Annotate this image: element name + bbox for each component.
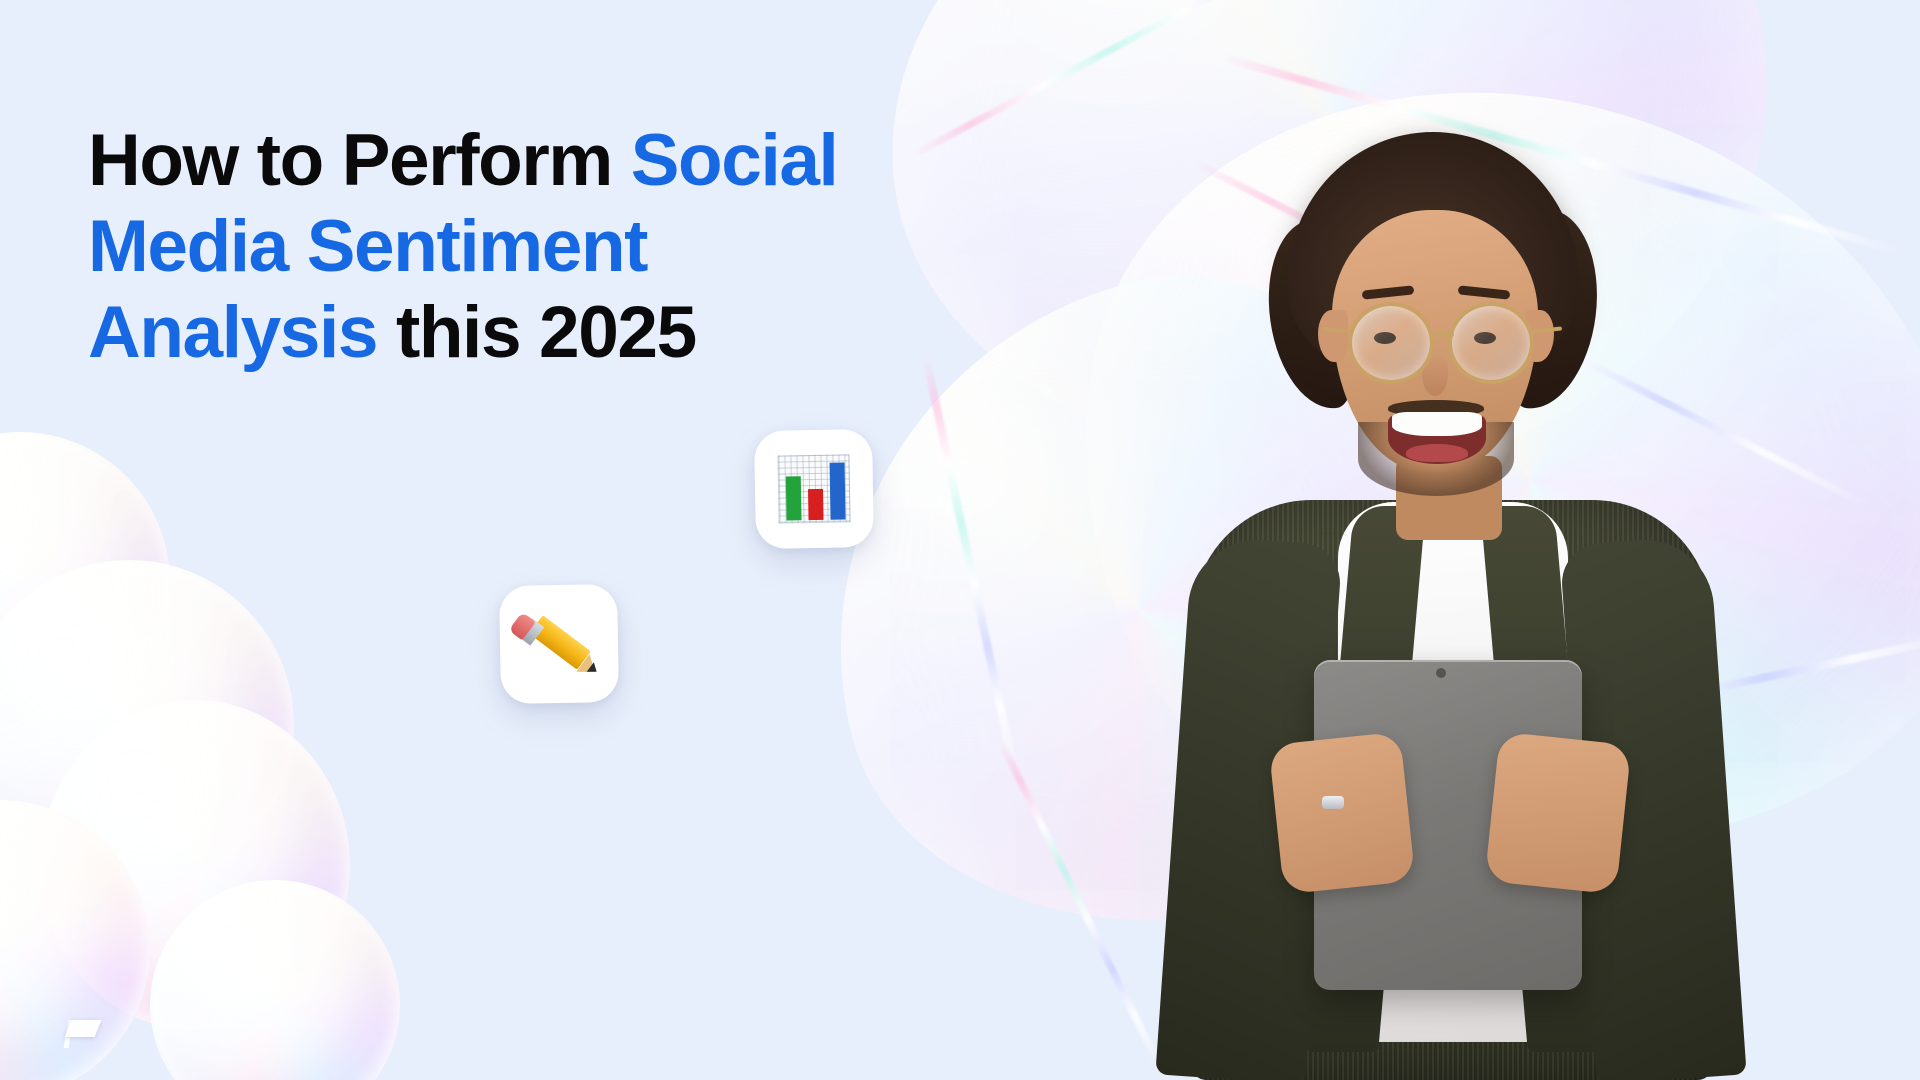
tablet-camera: [1436, 668, 1446, 678]
headline-text-accent-social: Social: [631, 120, 838, 201]
headline-line-3: Analysis this 2025: [88, 290, 1028, 376]
pencil-icon: [519, 604, 598, 683]
smiling-mouth: [1388, 412, 1486, 464]
hand-right: [1485, 732, 1632, 895]
page-title: How to Perform Social Media Sentiment An…: [88, 118, 1028, 376]
silver-ring: [1322, 796, 1344, 809]
smiling-man-with-tablet-photo: [1100, 70, 1800, 1080]
headline-line-1: How to Perform Social: [88, 118, 1028, 204]
headline-text-plain: How to Perform: [88, 120, 631, 201]
bar-chart-bar-blue: [830, 462, 846, 519]
bar-chart-icon: [777, 454, 850, 523]
ear-left: [1318, 310, 1348, 362]
headline-line-2: Media Sentiment: [88, 204, 1028, 290]
headline-text-accent-analysis: Analysis: [88, 292, 377, 373]
tongue: [1406, 444, 1468, 462]
headline-text-plain-year: this 2025: [377, 292, 696, 373]
hero-banner: How to Perform Social Media Sentiment An…: [0, 0, 1920, 1080]
pencil-card: [499, 584, 619, 704]
bubble-1: [0, 432, 170, 732]
teeth: [1392, 412, 1482, 436]
bubble-3: [40, 700, 350, 1030]
bubble-2: [0, 560, 294, 890]
glasses-lens-right: [1448, 302, 1534, 384]
bar-chart-card: [754, 429, 874, 549]
glasses-lens-left: [1348, 302, 1434, 384]
bubble-edge-4: [922, 358, 1017, 770]
bar-chart-bar-red: [808, 489, 824, 520]
logo-flag: [65, 1020, 102, 1037]
brand-logo-mark[interactable]: [62, 1016, 102, 1050]
glasses-bridge: [1434, 332, 1454, 337]
bar-chart-bar-green: [786, 476, 802, 520]
bubble-5: [150, 880, 400, 1080]
hand-left: [1269, 732, 1416, 895]
